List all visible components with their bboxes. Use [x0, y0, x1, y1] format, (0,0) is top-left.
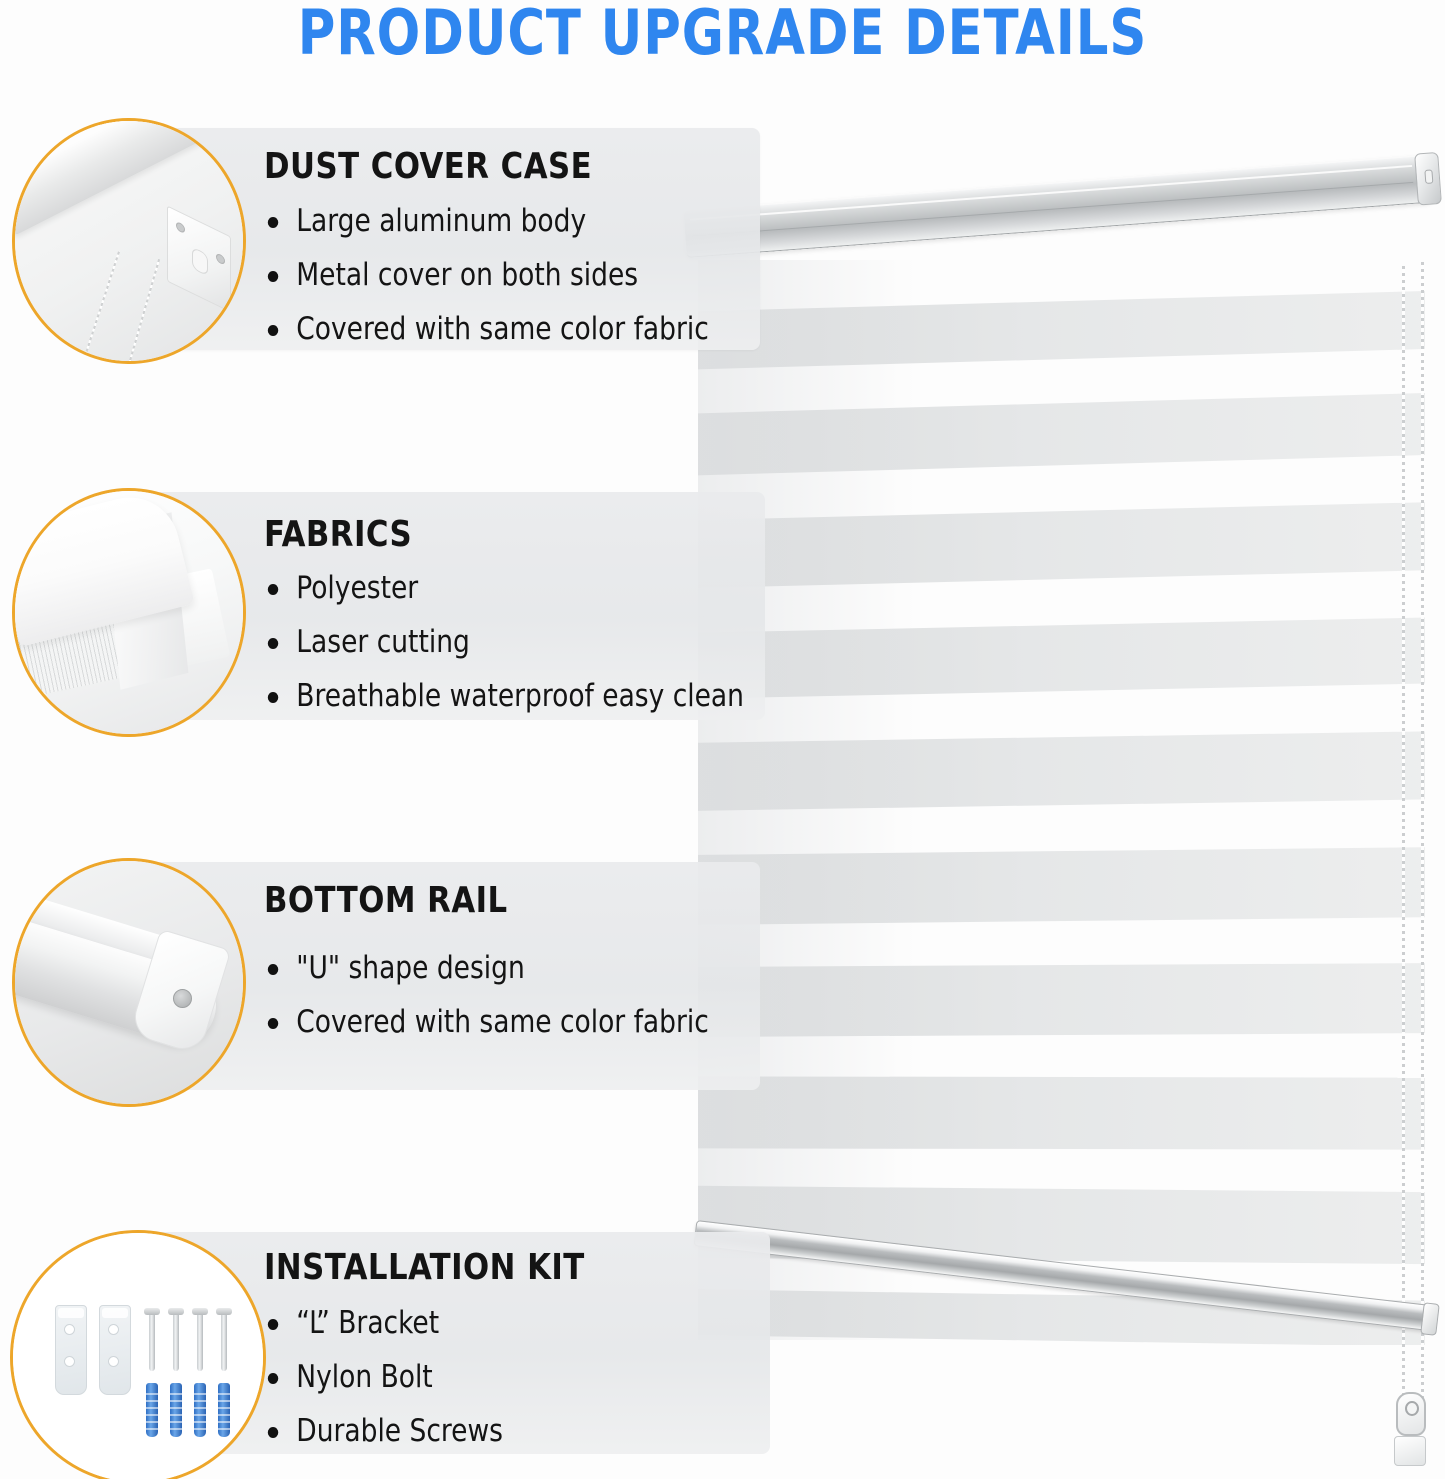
- nylon-bolt: [170, 1383, 182, 1437]
- bullet-item: Large aluminum body: [264, 203, 709, 239]
- l-bracket: [99, 1305, 131, 1395]
- top-rail-end-cap: [1414, 152, 1442, 206]
- durable-screw: [173, 1313, 179, 1371]
- feature-bullets: Large aluminum body Metal cover on both …: [264, 203, 732, 365]
- installation-kit-photo: [10, 1230, 266, 1479]
- nylon-bolt: [218, 1383, 230, 1437]
- bottom-rail-photo: [12, 858, 246, 1107]
- chain-weight: [1394, 1436, 1426, 1466]
- chain-connector: [1396, 1392, 1426, 1436]
- bullet-item: Laser cutting: [264, 624, 744, 660]
- top-rail: [683, 155, 1432, 256]
- bullet-item: Breathable waterproof easy clean: [264, 678, 744, 714]
- feature-heading: DUST COVER CASE: [264, 146, 592, 187]
- zebra-fabric: [698, 255, 1425, 1345]
- feature-bullets: Polyester Laser cutting Breathable water…: [264, 570, 769, 732]
- bullet-item: “L” Bracket: [264, 1305, 503, 1341]
- l-bracket: [55, 1305, 87, 1395]
- bullet-item: Durable Screws: [264, 1413, 503, 1449]
- durable-screw: [221, 1313, 227, 1371]
- feature-heading: BOTTOM RAIL: [264, 880, 508, 921]
- fabrics-photo: [12, 488, 246, 737]
- bullet-item: Metal cover on both sides: [264, 257, 709, 293]
- zebra-roller-shade-photo: [690, 200, 1445, 1320]
- page-title: PRODUCT UPGRADE DETAILS: [58, 2, 1387, 64]
- bullet-item: Covered with same color fabric: [264, 311, 709, 347]
- feature-bullets: “L” Bracket Nylon Bolt Durable Screws: [264, 1305, 516, 1467]
- bead-chain-front: [1402, 266, 1405, 1396]
- bullet-item: Polyester: [264, 570, 744, 606]
- nylon-bolt: [146, 1383, 158, 1437]
- bottom-rail-end-cap: [1420, 1302, 1440, 1336]
- feature-heading: FABRICS: [264, 514, 412, 555]
- rail-cap-screw: [173, 989, 192, 1008]
- bullet-item: "U" shape design: [264, 950, 709, 986]
- dust-cover-case-photo: [12, 118, 246, 364]
- case-bead-chain-a: [84, 251, 120, 356]
- bullet-item: Nylon Bolt: [264, 1359, 503, 1395]
- durable-screw: [149, 1313, 155, 1371]
- infographic-canvas: PRODUCT UPGRADE DETAILS: [0, 0, 1445, 1479]
- feature-bullets: "U" shape design Covered with same color…: [264, 950, 732, 1058]
- case-end-cap: [167, 205, 231, 312]
- aluminum-case-body: [12, 118, 234, 238]
- durable-screw: [197, 1313, 203, 1371]
- case-bead-chain-b: [128, 259, 160, 364]
- nylon-bolt: [194, 1383, 206, 1437]
- feature-heading: INSTALLATION KIT: [264, 1247, 585, 1288]
- bead-chain-back: [1421, 262, 1424, 1402]
- bullet-item: Covered with same color fabric: [264, 1004, 709, 1040]
